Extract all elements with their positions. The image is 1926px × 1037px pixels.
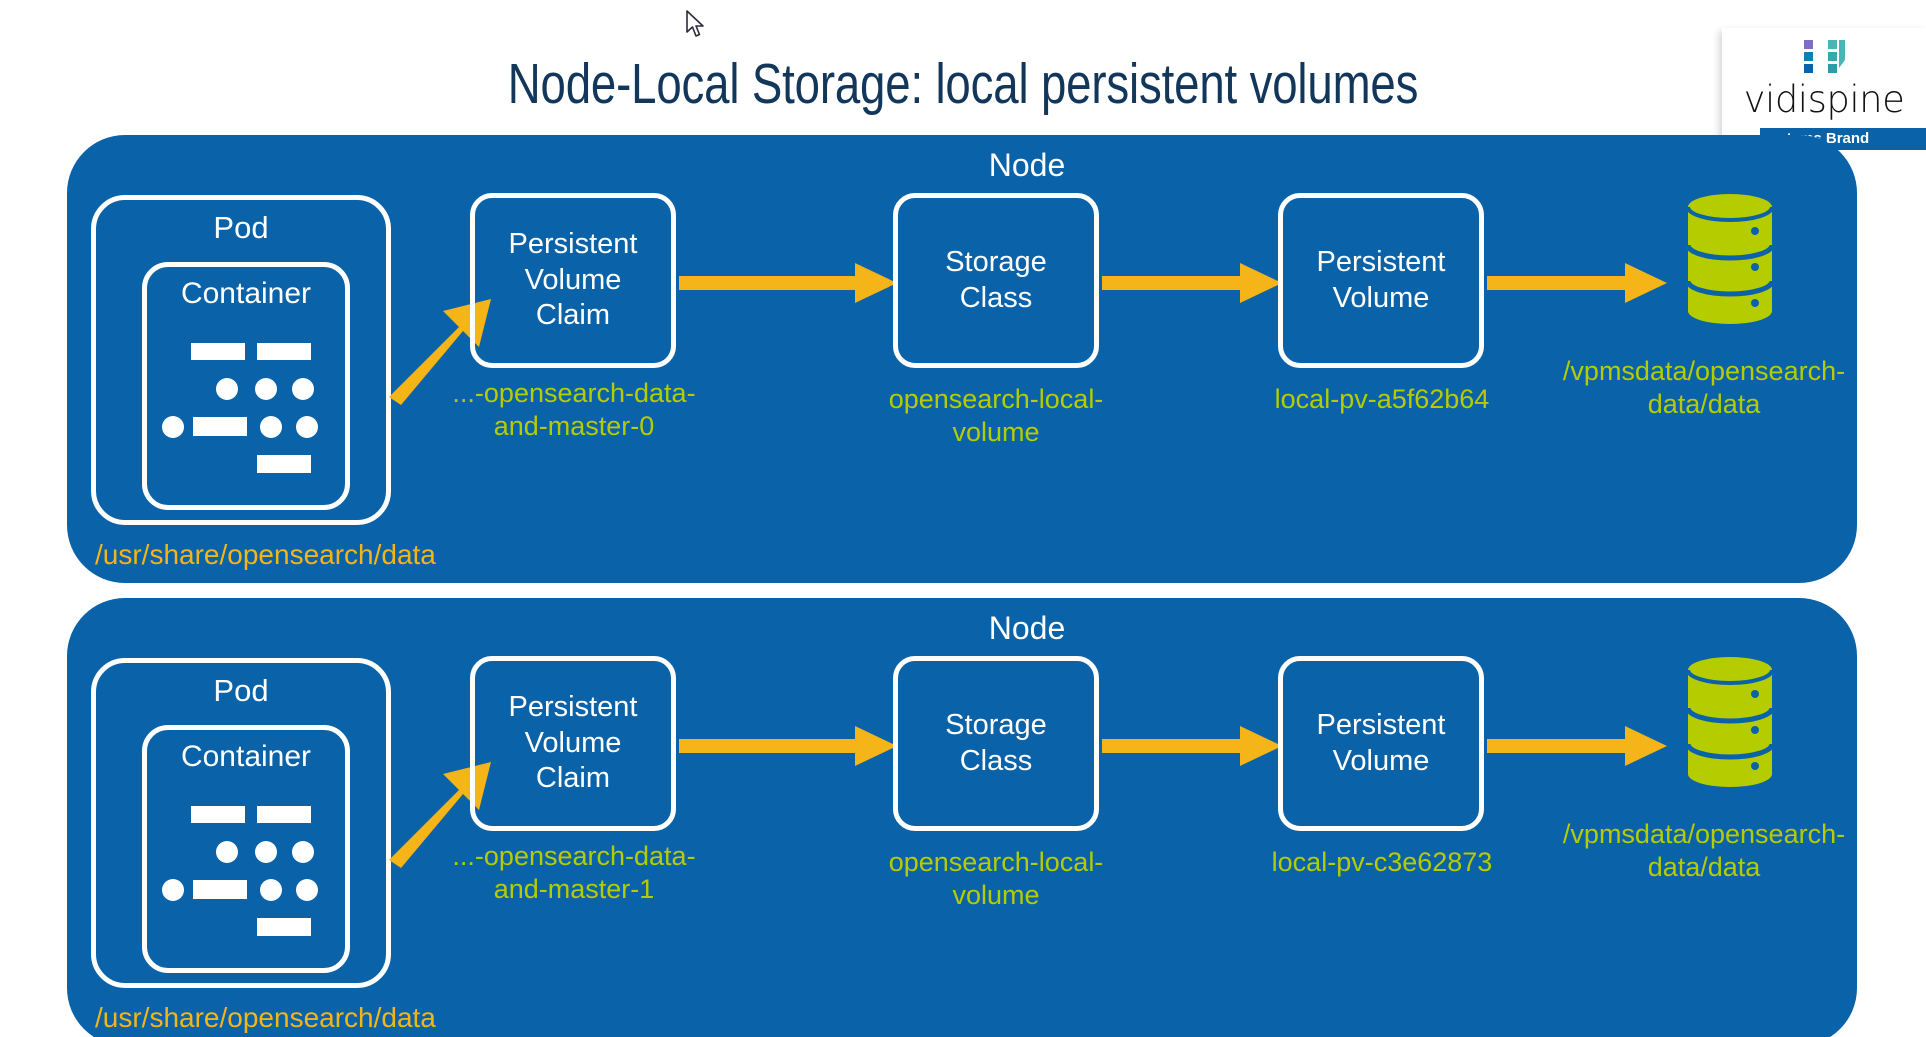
container-label: Container xyxy=(147,277,345,311)
storage-class-caption: opensearch-local-volume xyxy=(855,846,1137,912)
pv-label: PersistentVolume xyxy=(1317,708,1446,779)
container-box: Container xyxy=(142,725,350,973)
pod-mount-path: /usr/share/opensearch/data xyxy=(95,539,436,571)
pvc-caption: ...-opensearch-data-and-master-1 xyxy=(435,840,713,906)
vidispine-mark-icon xyxy=(1804,40,1848,74)
arrow-pvc-to-storage-class xyxy=(679,263,897,303)
pod-label: Pod xyxy=(96,673,386,709)
disk-storage-icon xyxy=(1685,193,1775,325)
pv-label: PersistentVolume xyxy=(1317,245,1446,316)
storage-class-box: StorageClass xyxy=(893,656,1099,831)
node-label: Node xyxy=(907,610,1147,647)
pvc-caption: ...-opensearch-data-and-master-0 xyxy=(435,377,713,443)
pv-caption: local-pv-a5f62b64 xyxy=(1243,383,1521,416)
container-label: Container xyxy=(147,740,345,774)
vidispine-wordmark: vidispine xyxy=(1722,78,1926,121)
container-glyph-icon xyxy=(161,800,339,950)
arrow-pv-to-disk xyxy=(1487,726,1667,766)
persistent-volume-box: PersistentVolume xyxy=(1278,656,1484,831)
persistent-volume-claim-box: PersistentVolumeClaim xyxy=(470,193,676,368)
pod-label: Pod xyxy=(96,210,386,246)
pvc-label: PersistentVolumeClaim xyxy=(509,690,638,796)
container-box: Container xyxy=(142,262,350,510)
storage-class-caption: opensearch-local-volume xyxy=(855,383,1137,449)
node-label: Node xyxy=(907,147,1147,184)
persistent-volume-claim-box: PersistentVolumeClaim xyxy=(470,656,676,831)
pod-box: Pod Container xyxy=(91,658,391,988)
arrow-storage-class-to-pv xyxy=(1102,726,1282,766)
pvc-label: PersistentVolumeClaim xyxy=(509,227,638,333)
storage-class-label: StorageClass xyxy=(945,708,1047,779)
disk-path-caption: /vpmsdata/opensearch-data/data xyxy=(1539,355,1869,421)
node-panel: Node Pod Container xyxy=(67,598,1857,1037)
disk-storage-icon xyxy=(1685,656,1775,788)
container-glyph-icon xyxy=(161,337,339,487)
slide-canvas: Node-Local Storage: local persistent vol… xyxy=(0,0,1926,1037)
pod-box: Pod Container xyxy=(91,195,391,525)
persistent-volume-box: PersistentVolume xyxy=(1278,193,1484,368)
pod-mount-path: /usr/share/opensearch/data xyxy=(95,1002,436,1034)
arrow-pv-to-disk xyxy=(1487,263,1667,303)
mouse-pointer-icon xyxy=(686,10,708,40)
disk-path-caption: /vpmsdata/opensearch-data/data xyxy=(1539,818,1869,884)
storage-class-box: StorageClass xyxy=(893,193,1099,368)
storage-class-label: StorageClass xyxy=(945,245,1047,316)
pv-caption: local-pv-c3e62873 xyxy=(1243,846,1521,879)
node-panel: Node Pod Container xyxy=(67,135,1857,583)
arrow-storage-class-to-pv xyxy=(1102,263,1282,303)
arrow-pvc-to-storage-class xyxy=(679,726,897,766)
page-title: Node-Local Storage: local persistent vol… xyxy=(193,56,1734,113)
